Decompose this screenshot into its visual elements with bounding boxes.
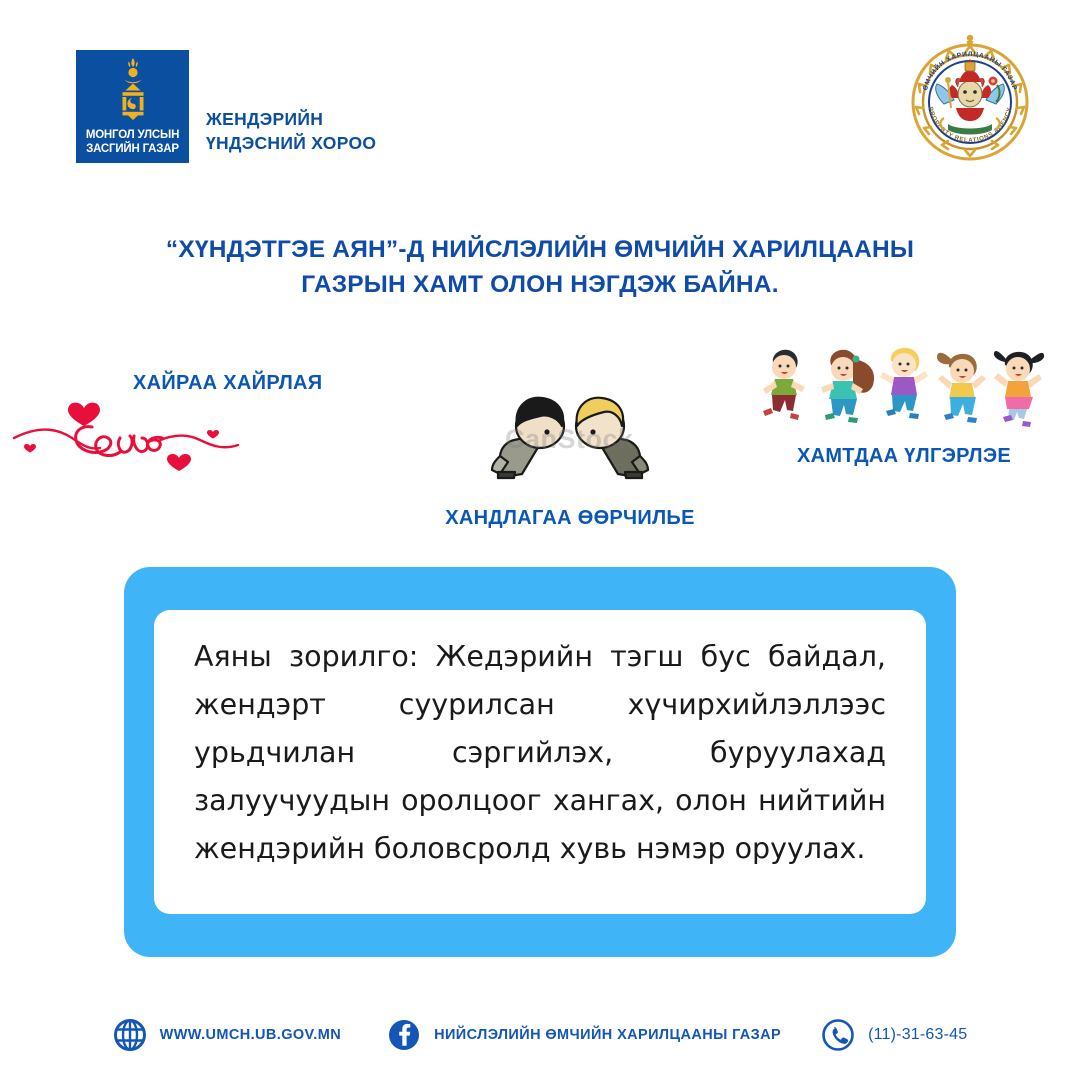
poster-title: “ХҮНДЭТГЭЕ АЯН”-Д НИЙСЛЭЛИЙН ӨМЧИЙН ХАРИ… bbox=[0, 232, 1080, 302]
campaign-goal-inner: Аяны зорилго: Жедэрийн тэгш бус байдал, … bbox=[154, 610, 926, 914]
footer-website[interactable]: WWW.UMCH.UB.GOV.MN bbox=[113, 1018, 341, 1052]
slogan-block-kids: ХАМТДАА ҮЛГЭРЛЭЕ bbox=[745, 345, 1065, 475]
love-script-hearts-icon bbox=[8, 394, 258, 474]
gov-label-line2: ЗАСГИЙН ГАЗАР bbox=[76, 143, 189, 157]
campaign-goal-card: Аяны зорилго: Жедэрийн тэгш бус байдал, … bbox=[124, 567, 956, 957]
footer-phone-label: (11)-31-63-45 bbox=[868, 1026, 967, 1044]
gov-label-line1: МОНГОЛ УЛСЫН bbox=[76, 129, 189, 143]
poster-canvas: МОНГОЛ УЛСЫН ЗАСГИЙН ГАЗАР ЖЕНДЭРИЙН ҮНД… bbox=[0, 0, 1080, 1080]
footer-phone[interactable]: (11)-31-63-45 bbox=[821, 1018, 967, 1052]
phone-icon bbox=[821, 1018, 855, 1052]
government-emblem-label: МОНГОЛ УЛСЫН ЗАСГИЙН ГАЗАР bbox=[76, 129, 189, 156]
globe-icon bbox=[113, 1018, 147, 1052]
soyombo-emblem-icon bbox=[110, 58, 156, 120]
poster-header: МОНГОЛ УЛСЫН ЗАСГИЙН ГАЗАР ЖЕНДЭРИЙН ҮНД… bbox=[0, 0, 1080, 200]
slogan-block-bow: ХАНДЛАГАА ӨӨРЧИЛЬЕ bbox=[420, 382, 720, 532]
two-people-bowing-icon bbox=[470, 382, 670, 482]
slogan-love-label: ХАЙРАА ХАЙРЛАЯ bbox=[133, 372, 322, 395]
footer-website-label: WWW.UMCH.UB.GOV.MN bbox=[160, 1027, 341, 1043]
campaign-goal-text: Аяны зорилго: Жедэрийн тэгш бус байдал, … bbox=[194, 633, 886, 873]
footer-facebook-label: НИЙСЛЭЛИЙН ӨМЧИЙН ХАРИЛЦААНЫ ГАЗАР bbox=[434, 1027, 781, 1043]
five-jumping-children-icon bbox=[753, 345, 1053, 435]
committee-line2: ҮНДЭСНИЙ ХОРОО bbox=[206, 131, 376, 155]
slogan-block-love: ХАЙРАА ХАЙРЛАЯ bbox=[0, 372, 380, 482]
footer-facebook[interactable]: НИЙСЛЭЛИЙН ӨМЧИЙН ХАРИЛЦААНЫ ГАЗАР bbox=[387, 1018, 781, 1052]
soyombo-emblem-box: МОНГОЛ УЛСЫН ЗАСГИЙН ГАЗАР bbox=[76, 50, 189, 163]
slogan-kids-label: ХАМТДАА ҮЛГЭРЛЭЕ bbox=[745, 445, 1063, 468]
gender-national-committee-label: ЖЕНДЭРИЙН ҮНДЭСНИЙ ХОРОО bbox=[206, 107, 376, 163]
committee-line1: ЖЕНДЭРИЙН bbox=[206, 107, 376, 131]
facebook-icon bbox=[387, 1018, 421, 1052]
government-logo: МОНГОЛ УЛСЫН ЗАСГИЙН ГАЗАР ЖЕНДЭРИЙН ҮНД… bbox=[76, 50, 376, 163]
poster-footer: WWW.UMCH.UB.GOV.MN НИЙСЛЭЛИЙН ӨМЧИЙН ХАР… bbox=[0, 998, 1080, 1072]
slogan-bow-label: ХАНДЛАГАА ӨӨРЧИЛЬЕ bbox=[420, 507, 720, 530]
property-relations-agency-seal-icon: ӨМЧИЙН ХАРИЛЦААНЫ ГАЗАР PROPERTY RELATIO… bbox=[904, 32, 1036, 164]
title-line-1: “ХҮНДЭТГЭЕ АЯН”-Д НИЙСЛЭЛИЙН ӨМЧИЙН ХАРИ… bbox=[0, 232, 1080, 267]
title-line-2: ГАЗРЫН ХАМТ ОЛОН НЭГДЭЖ БАЙНА. bbox=[0, 267, 1080, 302]
